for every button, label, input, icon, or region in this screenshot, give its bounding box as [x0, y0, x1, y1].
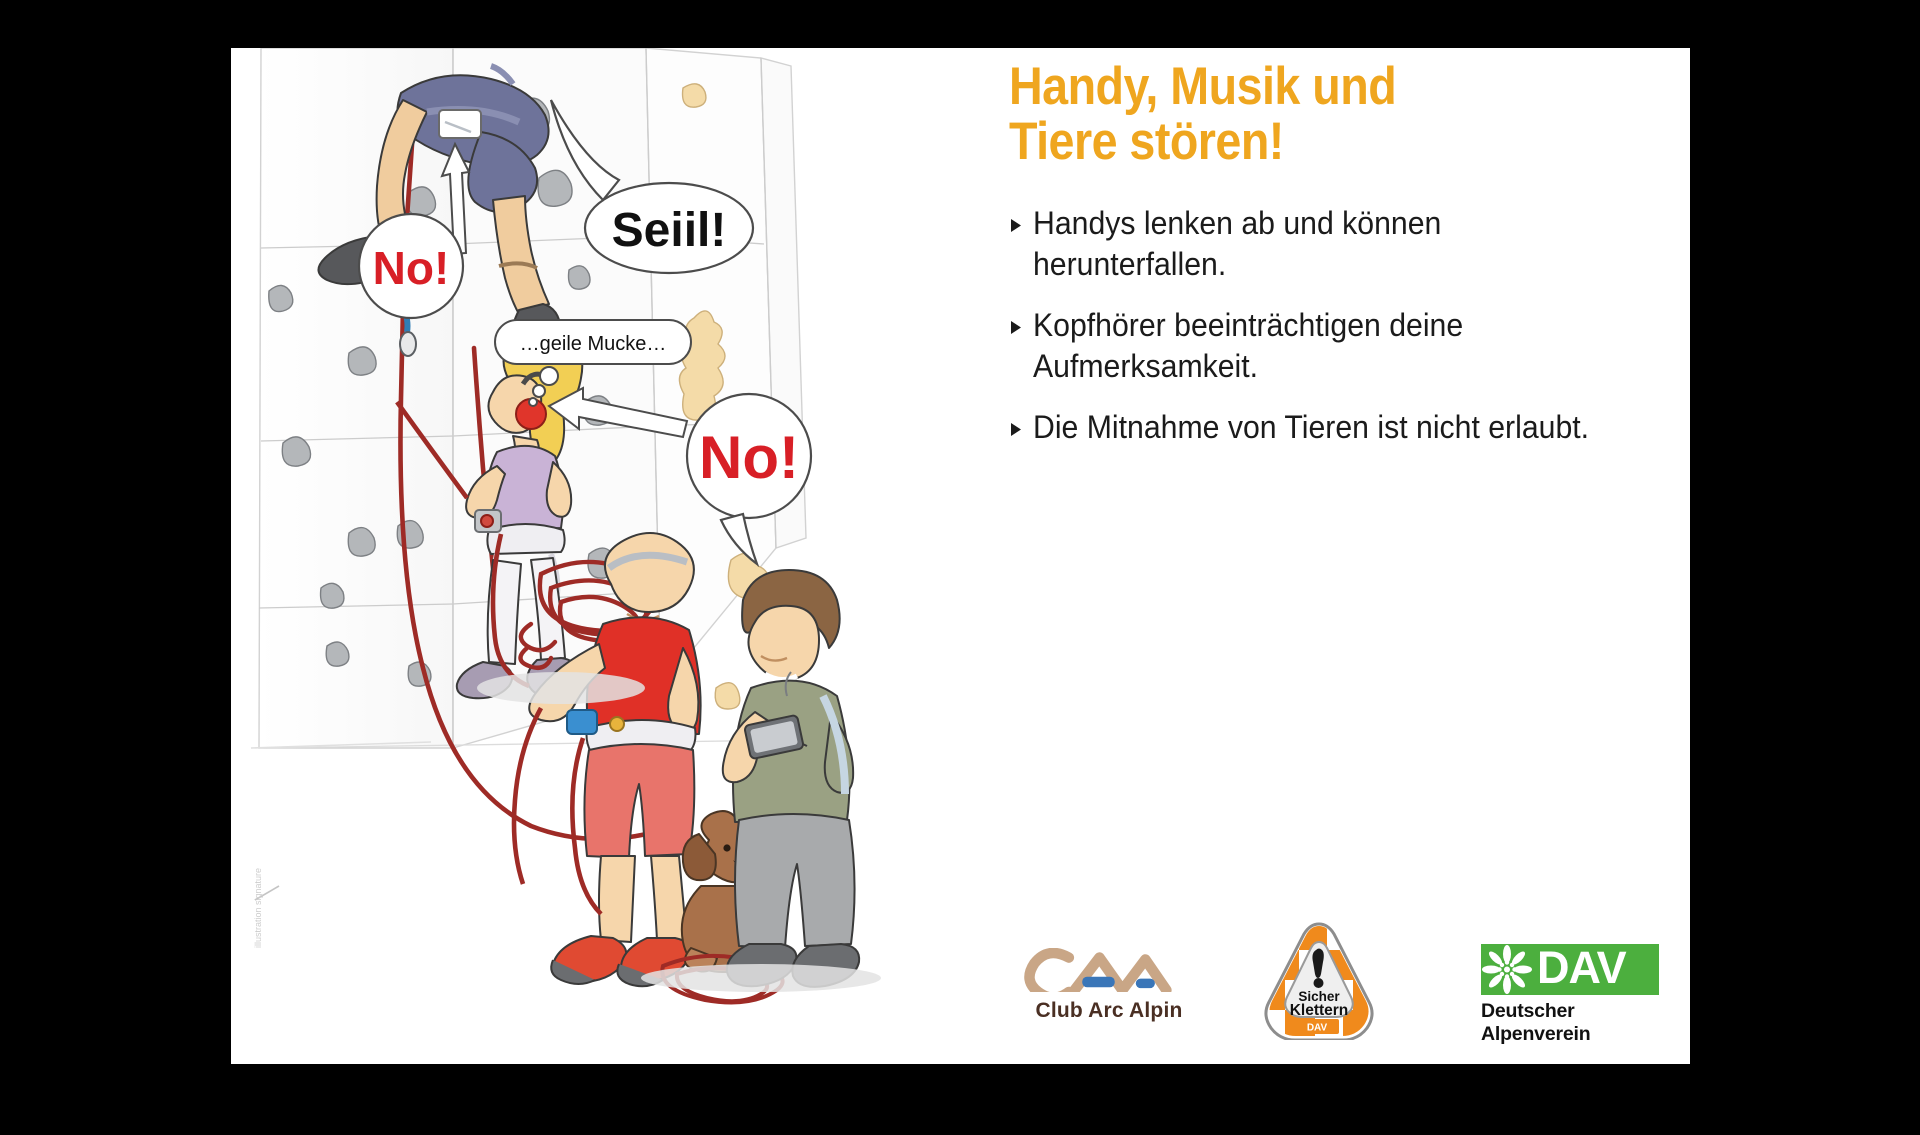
- page-title: Handy, Musik und Tiere stören!: [1009, 60, 1572, 169]
- dav-wordmark: DAV: [1537, 942, 1626, 994]
- edelweiss-icon: [1481, 944, 1533, 995]
- bubble-text-seil: Seiil!: [612, 204, 727, 257]
- bubble-text-no-top: No!: [373, 242, 450, 294]
- caa-label: Club Arc Alpin: [1019, 999, 1199, 1023]
- sk-dav-tag: DAV: [1307, 1023, 1328, 1034]
- bubble-text-music: …geile Mucke…: [520, 333, 667, 355]
- climber-with-phone: [723, 570, 859, 987]
- list-item: Handys lenken ab und können herunterfall…: [1009, 203, 1649, 285]
- speech-bubble-no-top: No!: [359, 214, 463, 318]
- content-column: Handy, Musik und Tiere stören! Handys le…: [1009, 60, 1649, 468]
- triangle-bullet-icon: [1009, 422, 1033, 437]
- triangle-bullet-icon: [1009, 320, 1033, 335]
- list-item: Kopfhörer beeinträchtigen deine Aufmerks…: [1009, 305, 1649, 387]
- logo-deutscher-alpenverein: DAV Deutscher Alpenverein: [1481, 944, 1681, 1046]
- bullet-text: Kopfhörer beeinträchtigen deine Aufmerks…: [1033, 305, 1606, 387]
- dav-label: Deutscher Alpenverein: [1481, 1000, 1681, 1046]
- list-item: Die Mitnahme von Tieren ist nicht erlaub…: [1009, 407, 1649, 448]
- slide: No! Seiil!: [231, 48, 1690, 1064]
- climbing-wall-illustration: No! Seiil!: [231, 48, 931, 1038]
- logo-row: Club Arc Alpin: [991, 920, 1691, 1040]
- artist-signature: illustration signature: [253, 868, 279, 948]
- logo-club-arc-alpin: Club Arc Alpin: [1019, 948, 1199, 1023]
- screen: No! Seiil!: [0, 0, 1920, 1135]
- bullet-list: Handys lenken ab und können herunterfall…: [1009, 203, 1649, 448]
- bullet-text: Die Mitnahme von Tieren ist nicht erlaub…: [1033, 407, 1606, 448]
- svg-text:illustration signature: illustration signature: [253, 868, 263, 948]
- dav-green-box: DAV: [1481, 944, 1659, 995]
- sicher-klettern-badge-icon: Sicher Klettern DAV: [1259, 920, 1379, 1040]
- sk-line2: Klettern: [1290, 1002, 1349, 1019]
- bullet-text: Handys lenken ab und können herunterfall…: [1033, 203, 1606, 285]
- triangle-bullet-icon: [1009, 218, 1033, 233]
- logo-sicher-klettern: Sicher Klettern DAV: [1259, 920, 1379, 1045]
- bubble-text-no-middle: No!: [699, 424, 799, 491]
- caa-mark-icon: [1019, 948, 1199, 992]
